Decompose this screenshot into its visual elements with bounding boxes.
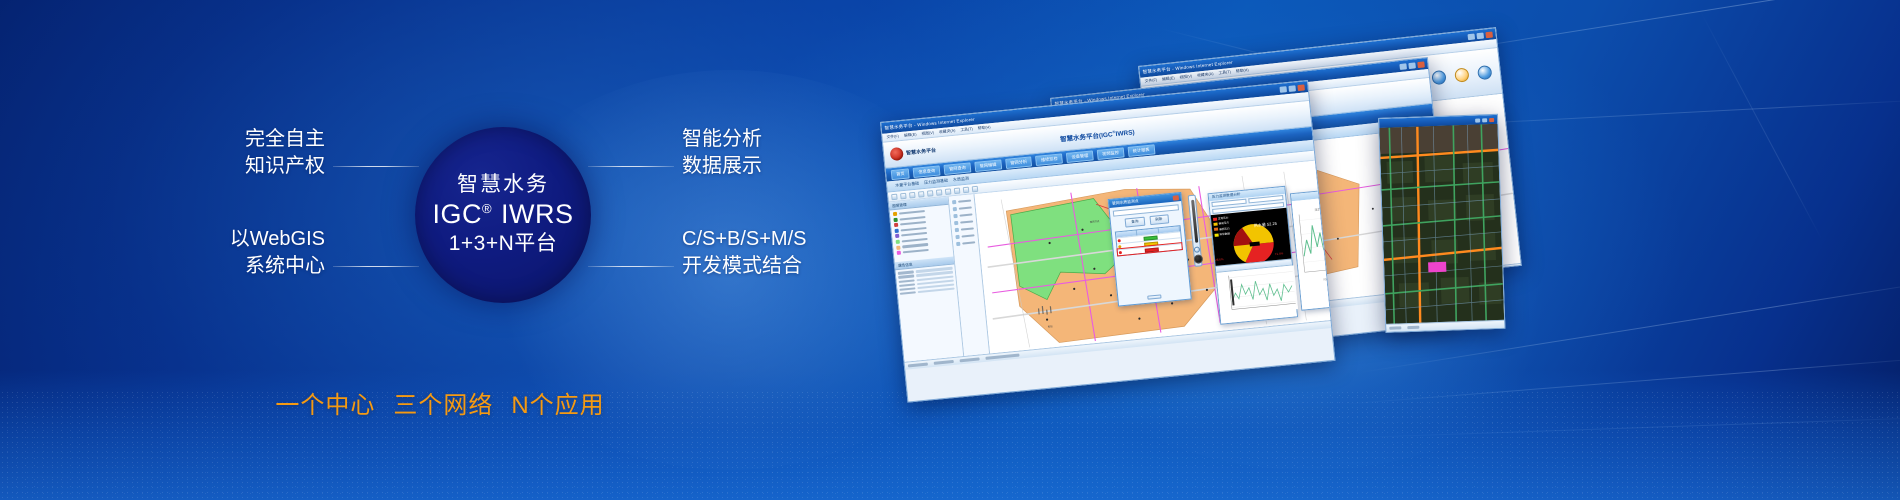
- hub-circle: 智慧水务 IGC®IWRS 1+3+N平台: [415, 127, 591, 303]
- svg-text:71.4%: 71.4%: [1275, 251, 1284, 256]
- tagline-part-2: 三个网络: [393, 392, 493, 419]
- satellite-map-graphic: [1379, 124, 1504, 324]
- pressure-analysis-panel[interactable]: 压力监测数据分析 正常压力 偏高压力: [1208, 186, 1299, 325]
- tool-item[interactable]: [955, 233, 974, 239]
- tool-pointer-icon[interactable]: [891, 193, 898, 200]
- sub-tab-pressure[interactable]: 压力监测基础: [924, 178, 948, 186]
- window-controls-back[interactable]: [1467, 31, 1493, 40]
- dialog-status-table[interactable]: [1115, 225, 1183, 256]
- props-table-front: [896, 265, 957, 298]
- status-indicator-alarm: [1145, 247, 1159, 252]
- promo-banner: 智慧水务 IGC®IWRS 1+3+N平台 完全自主 知识产权 智能分析 数据展…: [0, 0, 1900, 500]
- pan-dpad-icon[interactable]: [1193, 254, 1203, 264]
- platform-title-front: 智慧水务平台(IGC®IWRS): [1060, 126, 1135, 143]
- tool-layers-icon[interactable]: [954, 187, 961, 194]
- feature-top-right: 智能分析 数据展示: [682, 126, 882, 180]
- menu-item-help[interactable]: 帮助(H): [978, 125, 991, 131]
- close-icon[interactable]: [1485, 31, 1493, 38]
- dialog-ok-button[interactable]: [1147, 294, 1161, 299]
- satellite-map-canvas[interactable]: [1379, 124, 1504, 324]
- close-icon[interactable]: [1417, 61, 1425, 68]
- tool-zoom-in-icon[interactable]: [909, 191, 916, 198]
- menu-item-tools[interactable]: 工具(T): [1218, 70, 1231, 76]
- tool-zoom-out-icon[interactable]: [918, 191, 925, 198]
- maximize-icon[interactable]: [1476, 32, 1484, 39]
- tool-item[interactable]: [956, 240, 975, 246]
- nav-tab-maintenance[interactable]: 维修巡检: [1035, 153, 1063, 166]
- tool-item[interactable]: [955, 226, 974, 232]
- platform-title-b: IWRS): [1115, 129, 1135, 138]
- nav-tab-home[interactable]: 首页: [891, 168, 910, 180]
- menu-item-help[interactable]: 帮助(H): [1236, 68, 1249, 74]
- sub-tab-quality[interactable]: 水质监测: [953, 176, 970, 184]
- dialog-footer: [1121, 292, 1187, 302]
- feature-top-right-line2: 数据展示: [682, 153, 882, 180]
- company-logo-icon: [890, 147, 904, 161]
- application-screenshot-stack: 智慧水务平台 - Windows Internet Explorer 文件(F)…: [940, 0, 1740, 500]
- nav-tab-pipe-edit[interactable]: 管网编辑: [974, 159, 1002, 172]
- platform-title-a: 智慧水务平台(IGC: [1060, 131, 1113, 143]
- monitoring-dialog[interactable]: 管网水质监测点 查询 刷新: [1108, 192, 1192, 307]
- maximize-icon[interactable]: [1288, 85, 1296, 92]
- monitoring-dialog-body: 查询 刷新: [1109, 201, 1190, 306]
- screenshot-window-front[interactable]: 智慧水务平台 - Windows Internet Explorer 文件(F)…: [880, 80, 1335, 403]
- tool-item[interactable]: [953, 212, 972, 218]
- feature-bottom-left-line2: 系统中心: [110, 253, 325, 280]
- dialog-refresh-button[interactable]: 刷新: [1149, 214, 1169, 225]
- nav-tab-info-query[interactable]: 信息查询: [913, 165, 941, 178]
- window-controls-satellite[interactable]: [1475, 117, 1494, 122]
- menu-item-edit[interactable]: 编辑(E): [904, 132, 917, 138]
- menu-item-file[interactable]: 文件(F): [886, 134, 899, 140]
- minimize-icon[interactable]: [1475, 118, 1480, 122]
- tool-settings-icon[interactable]: [972, 185, 979, 192]
- minimize-icon[interactable]: [1279, 86, 1287, 93]
- window-controls-middle[interactable]: [1399, 61, 1425, 70]
- trend-sparkline-graphic: [1216, 265, 1298, 316]
- tool-item[interactable]: [954, 219, 973, 225]
- nav-tab-pipe-query[interactable]: 管网查询: [944, 162, 972, 175]
- hub-brand-iwrs: IWRS: [501, 199, 574, 229]
- tagline-part-1: 一个中心: [275, 392, 375, 419]
- menu-item-file[interactable]: 文件(F): [1144, 78, 1157, 84]
- hub-line-1: 智慧水务: [457, 173, 549, 196]
- menu-item-edit[interactable]: 编辑(E): [1162, 76, 1175, 82]
- dialog-query-button[interactable]: 查询: [1125, 217, 1145, 228]
- screenshot-window-satellite[interactable]: [1378, 114, 1505, 333]
- tool-measure-icon[interactable]: [927, 190, 934, 197]
- tagline: 一个中心三个网络N个应用: [0, 385, 880, 420]
- menu-item-view[interactable]: 视图(V): [1179, 74, 1192, 80]
- value-proposition-diagram: 智慧水务 IGC®IWRS 1+3+N平台 完全自主 知识产权 智能分析 数据展…: [0, 0, 880, 500]
- registered-mark-icon: ®: [482, 201, 492, 216]
- zoom-knob[interactable]: [1194, 246, 1201, 253]
- close-icon[interactable]: [1297, 84, 1305, 91]
- connector-bottom-left: [333, 266, 419, 267]
- feature-bottom-right: C/S+B/S+M/S 开发模式结合: [682, 226, 892, 280]
- nav-tab-video[interactable]: 视频监控: [1097, 147, 1125, 160]
- feature-top-right-line1: 智能分析: [682, 126, 882, 153]
- nav-tab-reports[interactable]: 统计报表: [1127, 144, 1155, 157]
- tool-print-icon[interactable]: [945, 188, 952, 195]
- maximize-icon[interactable]: [1482, 118, 1487, 122]
- zoom-track[interactable]: [1191, 200, 1198, 243]
- nav-tab-devices[interactable]: 设备管理: [1066, 150, 1094, 163]
- tool-search-icon[interactable]: [963, 186, 970, 193]
- tool-item[interactable]: [952, 198, 971, 204]
- menu-item-view[interactable]: 视图(V): [921, 130, 934, 136]
- tool-item[interactable]: [953, 205, 972, 211]
- feature-top-left: 完全自主 知识产权: [110, 126, 325, 180]
- svg-text:28.6%: 28.6%: [1215, 257, 1224, 262]
- sub-tab-water-volume[interactable]: 水量平台基础: [895, 180, 919, 188]
- ribbon-icon[interactable]: [1454, 67, 1469, 82]
- feature-bottom-left-line1: 以WebGIS: [110, 226, 325, 253]
- tagline-part-3: N个应用: [511, 392, 604, 419]
- tool-pan-icon[interactable]: [900, 192, 907, 199]
- feature-bottom-right-line2: 开发模式结合: [682, 253, 892, 280]
- hub-line-3: 1+3+N平台: [449, 231, 558, 256]
- menu-item-favorites[interactable]: 收藏夹(A): [1197, 71, 1214, 78]
- menu-item-favorites[interactable]: 收藏夹(A): [939, 128, 956, 135]
- maximize-icon[interactable]: [1408, 62, 1416, 69]
- hub-line-2: IGC®IWRS: [432, 199, 573, 231]
- minimize-icon[interactable]: [1467, 33, 1475, 40]
- menu-item-tools[interactable]: 工具(T): [960, 126, 973, 132]
- hub-brand-igc: IGC: [432, 199, 482, 229]
- close-icon[interactable]: [1489, 117, 1494, 121]
- ribbon-icon[interactable]: [1477, 64, 1492, 79]
- supply-pie-chart[interactable]: 正常压力 偏高压力 偏低压力 异常数据: [1211, 208, 1292, 266]
- trend-sparkline[interactable]: [1216, 264, 1297, 323]
- ribbon-icon[interactable]: [1431, 69, 1446, 84]
- feature-top-left-line2: 知识产权: [110, 153, 325, 180]
- layer-tree-front[interactable]: [890, 205, 953, 258]
- pie-value-label: 供水量 52.25: [1254, 220, 1278, 228]
- tool-identify-icon[interactable]: [936, 189, 943, 196]
- feature-bottom-right-line1: C/S+B/S+M/S: [682, 226, 892, 253]
- brand-name-front: 智慧水务平台: [906, 147, 937, 157]
- connector-top-left: [333, 166, 419, 167]
- feature-bottom-left: 以WebGIS 系统中心: [110, 226, 325, 280]
- close-icon[interactable]: [1173, 195, 1179, 201]
- map-canvas-front[interactable]: 管网节点 泵站 阀门 管网水质监测点: [974, 161, 1330, 354]
- tool-column-items[interactable]: [949, 194, 979, 248]
- svg-text:泵站: 泵站: [1048, 324, 1054, 329]
- connector-bottom-right: [588, 266, 674, 267]
- window-controls-front[interactable]: [1279, 84, 1304, 92]
- connector-top-right: [588, 166, 674, 167]
- nav-tab-analysis[interactable]: 管网分析: [1005, 156, 1033, 169]
- minimize-icon[interactable]: [1399, 63, 1407, 70]
- pie-chart-graphic: 供水量 52.25 28.6% 71.4%: [1211, 208, 1292, 266]
- feature-top-left-line1: 完全自主: [110, 126, 325, 153]
